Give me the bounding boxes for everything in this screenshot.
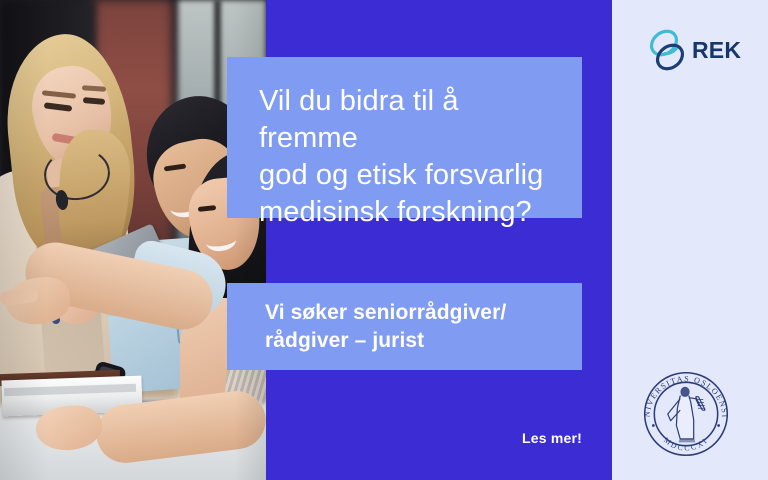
read-more-link[interactable]: Les mer! — [440, 430, 582, 446]
headline-box: Vil du bidra til å fremme god og etisk f… — [227, 57, 582, 218]
recruitment-banner: Vil du bidra til å fremme god og etisk f… — [0, 0, 768, 480]
rek-wordmark: REK — [692, 39, 741, 62]
uio-seal-graphic: UNIVERSITAS OSLOENSIS MDCCCXI — [638, 366, 734, 462]
job-title-text: Vi søker seniorrådgiver/ rådgiver – juri… — [265, 299, 564, 355]
interlocking-rings-icon — [648, 28, 688, 72]
job-title-box: Vi søker seniorrådgiver/ rådgiver – juri… — [227, 283, 582, 370]
headline-text: Vil du bidra til å fremme god og etisk f… — [259, 83, 552, 231]
uio-seal[interactable]: UNIVERSITAS OSLOENSIS MDCCCXI — [638, 366, 734, 462]
rek-logo[interactable]: REK — [648, 26, 740, 74]
